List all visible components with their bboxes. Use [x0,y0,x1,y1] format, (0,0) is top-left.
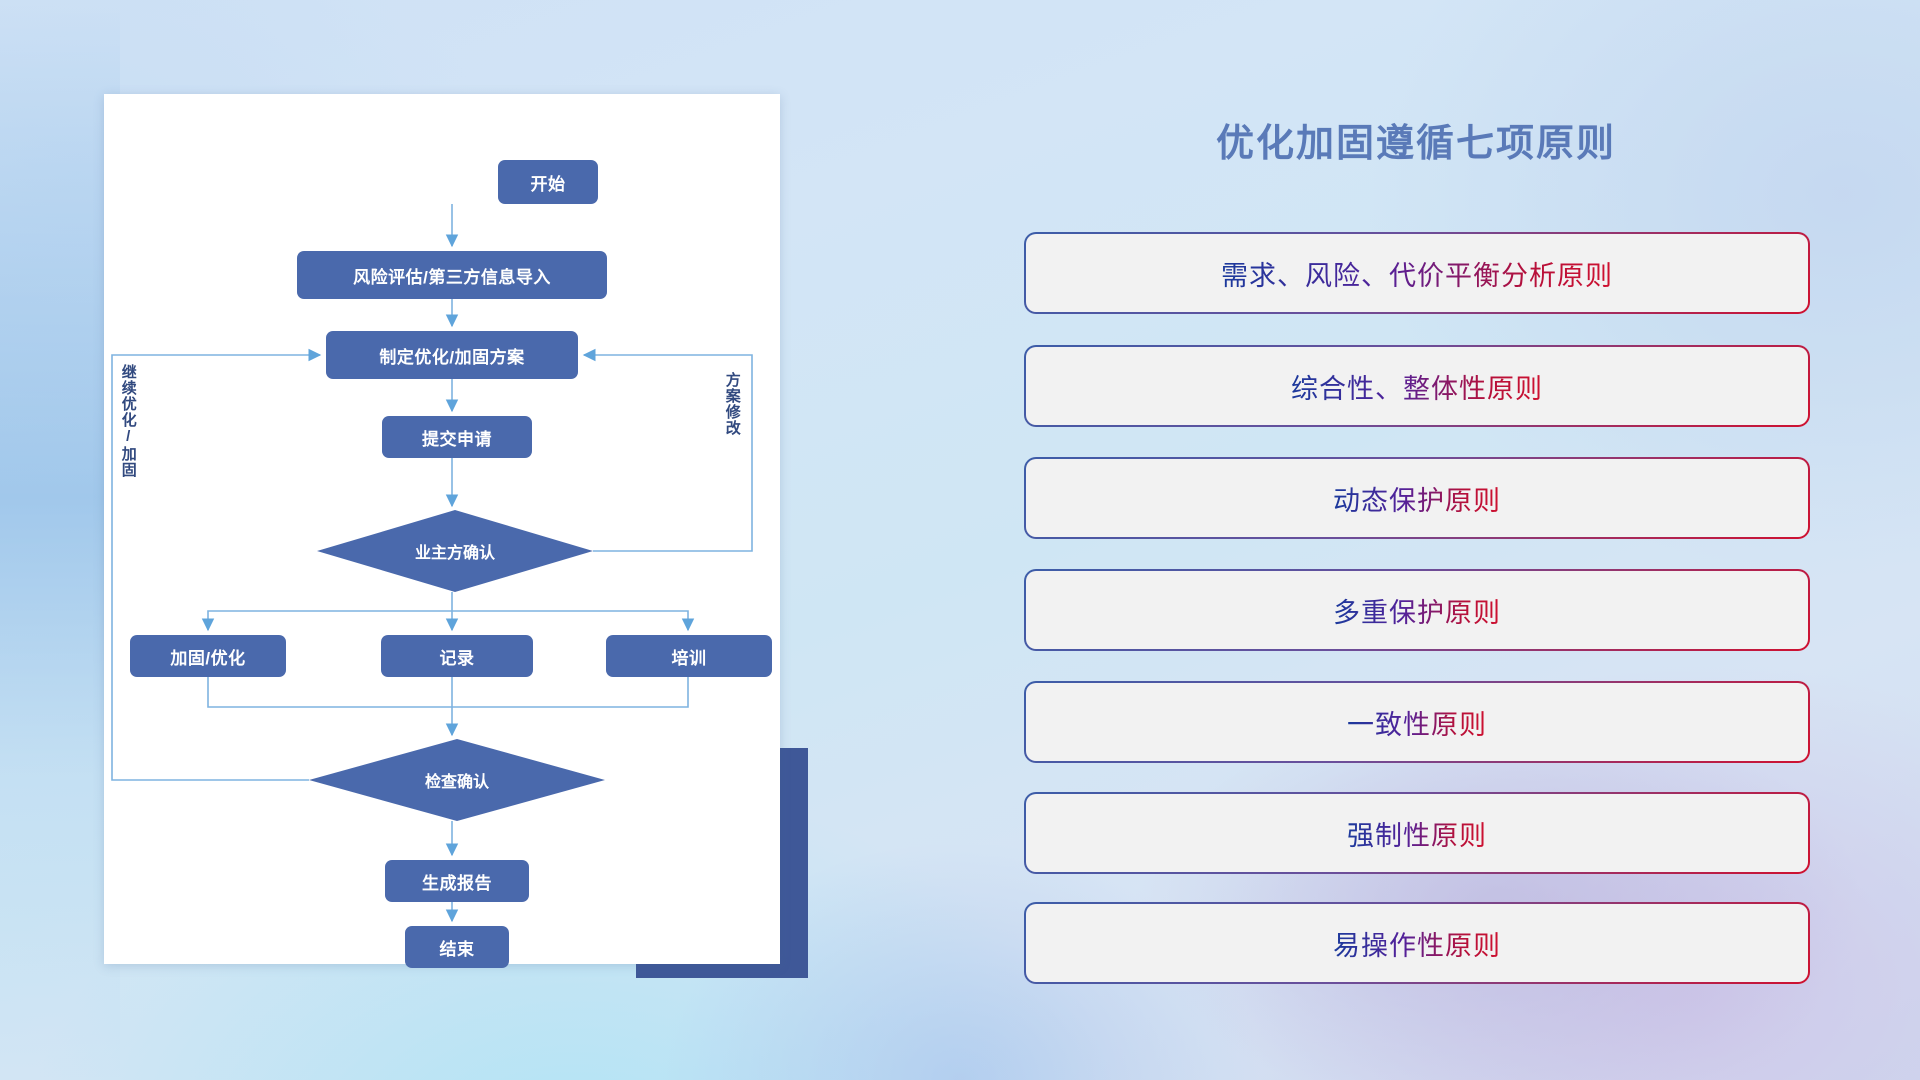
principle-label: 易操作性原则 [1333,924,1501,963]
flow-label-plan-revision: 方案修改 [724,372,740,436]
flow-node-end[interactable]: 结束 [405,926,509,968]
principle-item[interactable]: 易操作性原则 [1024,902,1810,984]
principle-label: 多重保护原则 [1333,591,1501,630]
flow-node-reinforce[interactable]: 加固/优化 [130,635,286,677]
flow-decision-label: 检查确认 [425,768,489,792]
flow-node-label: 记录 [440,644,475,669]
flow-node-submit-application[interactable]: 提交申请 [382,416,532,458]
flow-node-label: 加固/优化 [170,644,245,669]
principle-item[interactable]: 综合性、整体性原则 [1024,345,1810,427]
principle-item[interactable]: 动态保护原则 [1024,457,1810,539]
principle-item[interactable]: 一致性原则 [1024,681,1810,763]
flow-label-continue-optimize: 继续优化/加固 [120,364,136,478]
flow-node-plan[interactable]: 制定优化/加固方案 [326,331,578,379]
principle-item[interactable]: 强制性原则 [1024,792,1810,874]
flow-decision-owner-confirm[interactable]: 业主方确认 [317,510,593,592]
principle-label: 综合性、整体性原则 [1291,367,1543,406]
flow-node-generate-report[interactable]: 生成报告 [385,860,529,902]
flow-node-label: 培训 [672,644,707,669]
principle-label: 强制性原则 [1347,814,1487,853]
flow-node-risk-assessment[interactable]: 风险评估/第三方信息导入 [297,251,607,299]
principle-label: 动态保护原则 [1333,479,1501,518]
principle-label: 一致性原则 [1347,703,1487,742]
page-title: 优化加固遵循七项原则 [1146,112,1686,167]
flow-node-start[interactable]: 开始 [498,160,598,204]
flow-node-training[interactable]: 培训 [606,635,772,677]
flow-node-label: 提交申请 [422,425,492,450]
flow-node-label: 结束 [440,935,475,960]
left-edge-glow [0,0,120,1080]
flow-node-label: 生成报告 [422,869,492,894]
flow-node-label: 开始 [531,170,566,195]
flow-node-label: 制定优化/加固方案 [379,343,524,368]
principle-item[interactable]: 多重保护原则 [1024,569,1810,651]
flow-node-label: 风险评估/第三方信息导入 [353,263,551,288]
principle-label: 需求、风险、代价平衡分析原则 [1221,254,1613,293]
flow-decision-label: 业主方确认 [415,539,495,563]
principle-item[interactable]: 需求、风险、代价平衡分析原则 [1024,232,1810,314]
flow-decision-inspection-confirm[interactable]: 检查确认 [309,739,605,821]
flow-node-record[interactable]: 记录 [381,635,533,677]
flowchart: 开始 风险评估/第三方信息导入 制定优化/加固方案 提交申请 加固/优化 记录 … [104,94,780,964]
